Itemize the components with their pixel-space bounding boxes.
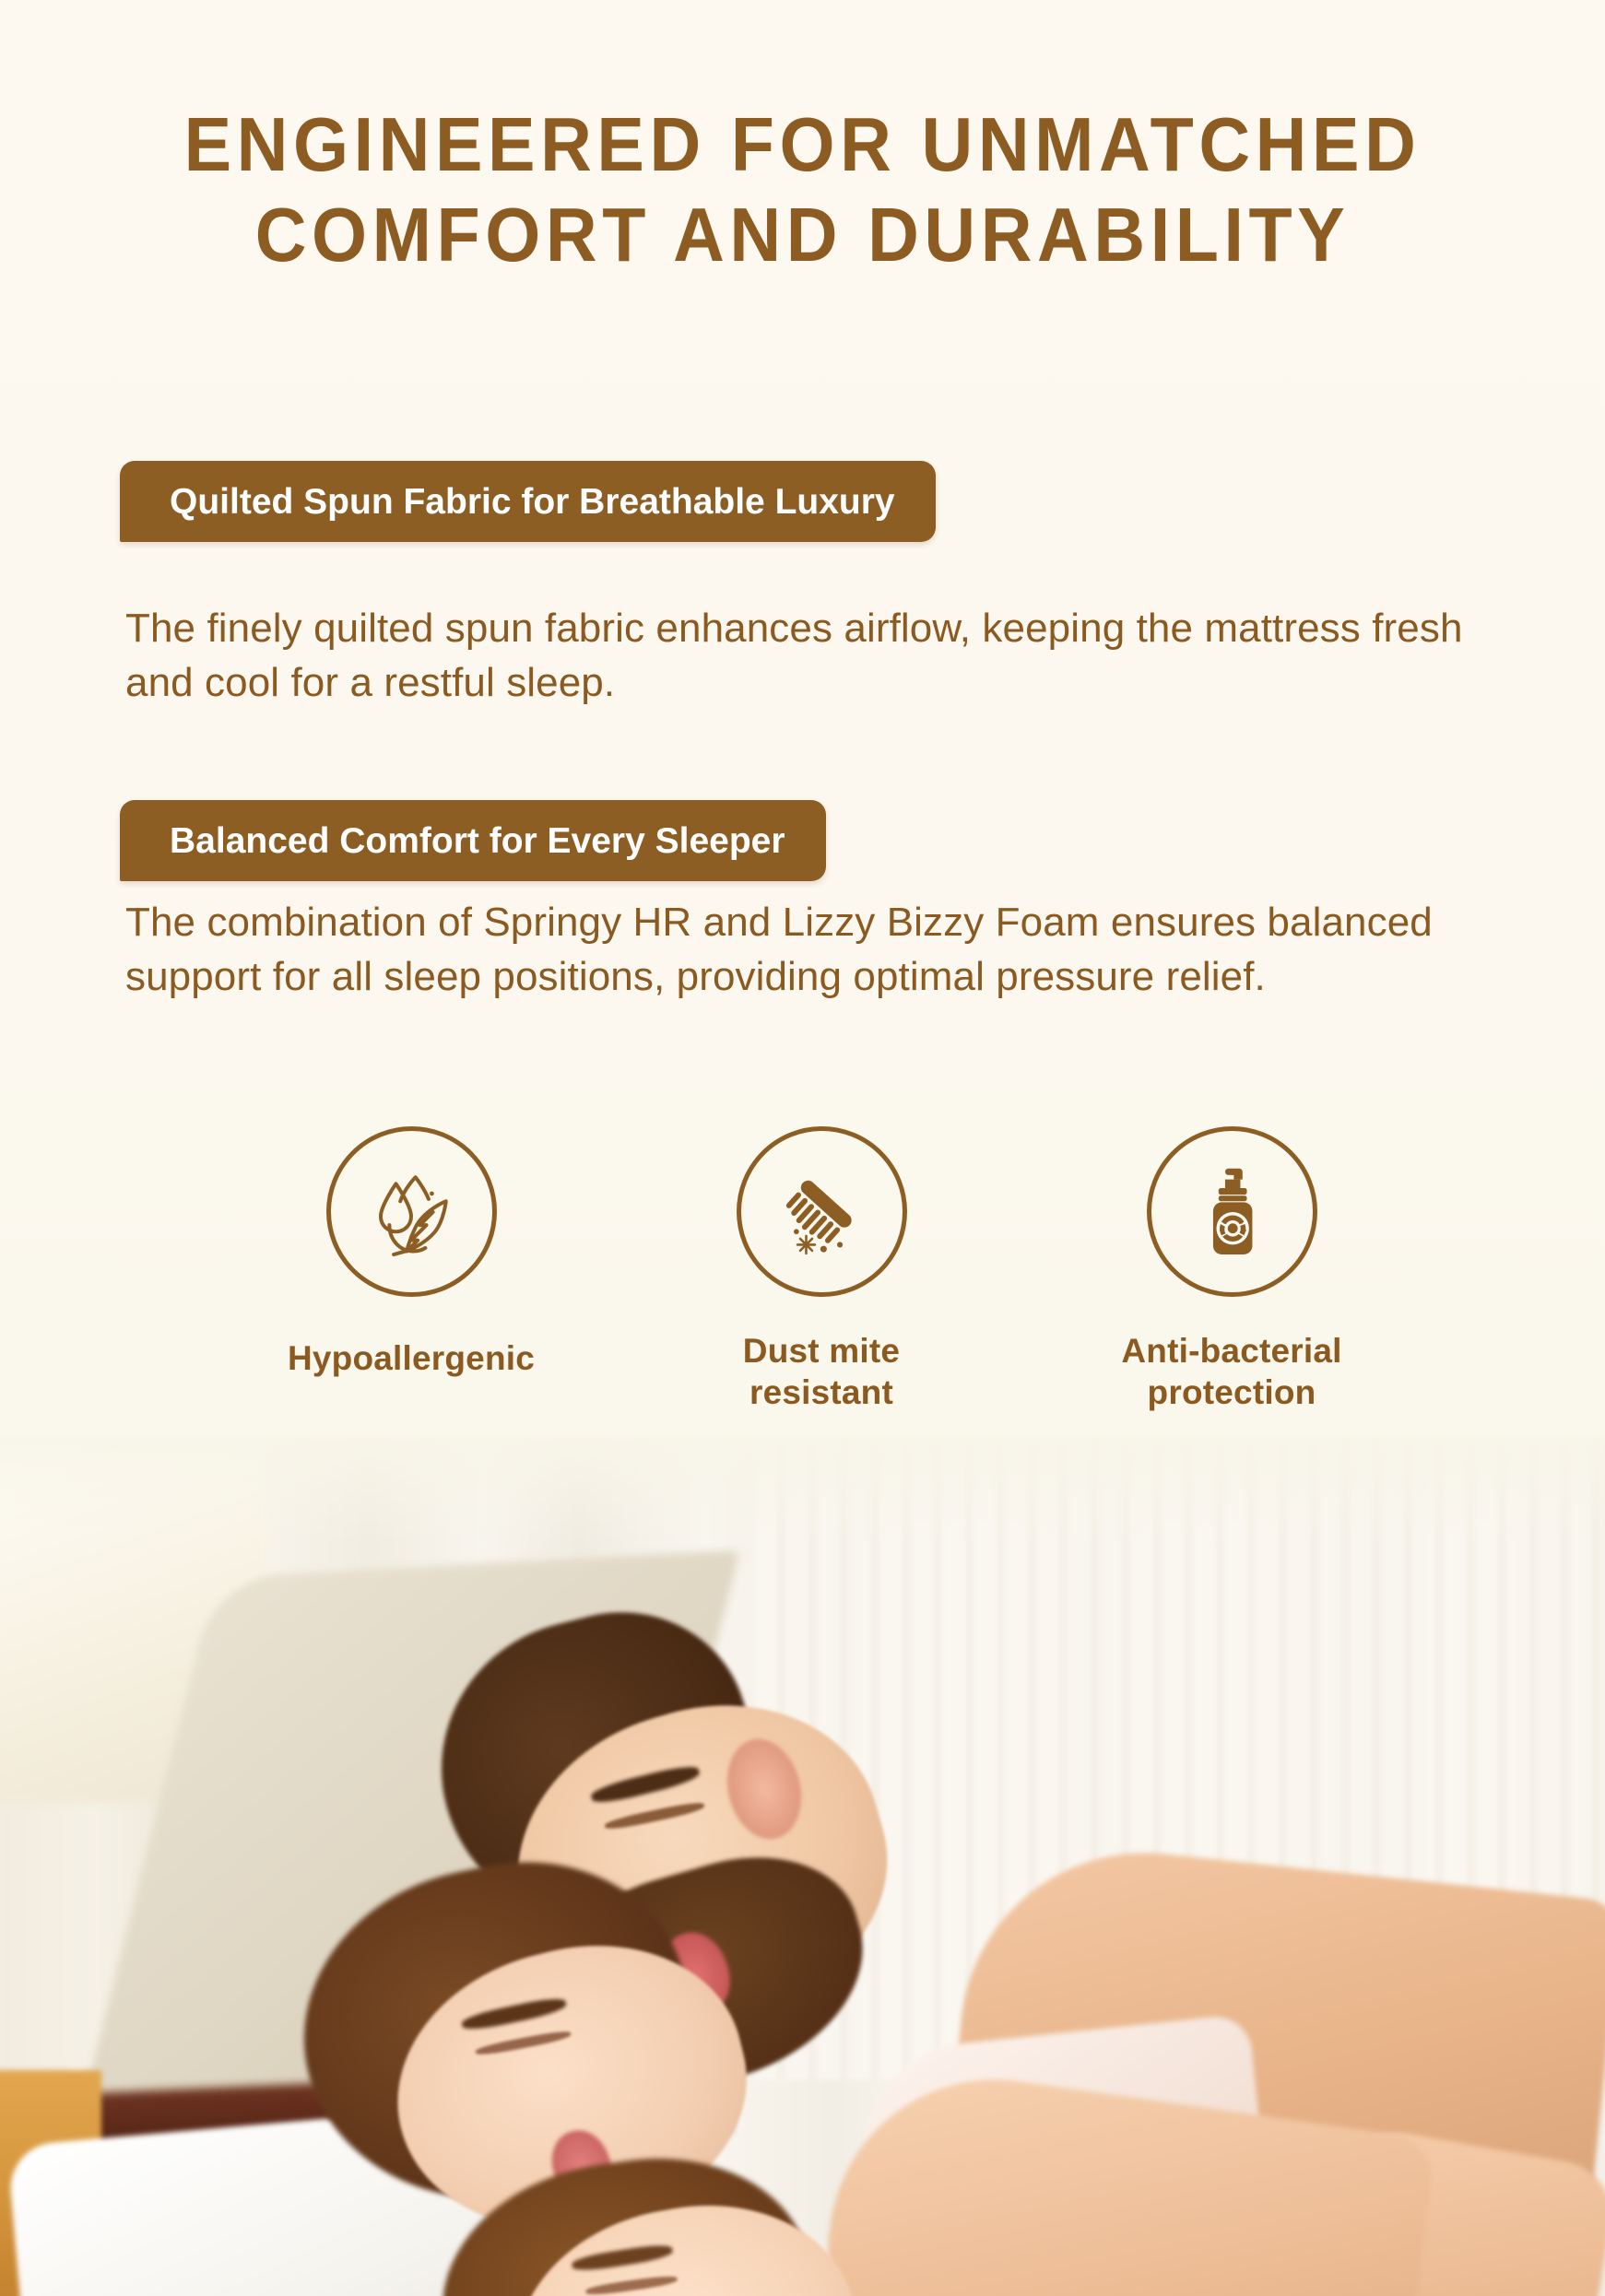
page-title: ENGINEERED FOR UNMATCHED COMFORT AND DUR… [0, 100, 1605, 280]
feature-icon-circle [737, 1126, 907, 1297]
brush-sparkle-icon [767, 1158, 876, 1266]
feature-icon-circle [1147, 1126, 1317, 1297]
family-sleeping-photo [0, 1434, 1605, 2296]
section-body-balanced-comfort: The combination of Springy HR and Lizzy … [125, 896, 1490, 1004]
section-badge-label: Balanced Comfort for Every Sleeper [170, 823, 785, 859]
feature-hypoallergenic: Hypoallergenic [227, 1126, 596, 1379]
feature-label: Anti-bacterialprotection [1121, 1330, 1341, 1413]
section-body-quilted-spun-fabric: The finely quilted spun fabric enhances … [125, 602, 1490, 710]
page-title-line-2: COMFORT AND DURABILITY [56, 190, 1549, 280]
product-feature-poster: ENGINEERED FOR UNMATCHED COMFORT AND DUR… [0, 0, 1605, 2296]
feature-icon-row: Hypoallergenic [227, 1126, 1416, 1413]
feature-label: Dust miteresistant [743, 1330, 900, 1413]
section-badge-quilted-spun-fabric: Quilted Spun Fabric for Breathable Luxur… [120, 461, 936, 542]
section-badge-label: Quilted Spun Fabric for Breathable Luxur… [170, 484, 895, 520]
water-drop-feather-icon [357, 1158, 466, 1266]
feature-label: Hypoallergenic [288, 1337, 535, 1379]
feature-dust-mite-resistant: Dust miteresistant [637, 1126, 1006, 1413]
photo-top-fade [0, 1434, 1605, 1545]
feature-anti-bacterial-protection: Anti-bacterialprotection [1047, 1126, 1416, 1413]
sanitizer-bottle-icon [1177, 1158, 1286, 1266]
section-badge-balanced-comfort: Balanced Comfort for Every Sleeper [120, 800, 826, 881]
feature-icon-circle [326, 1126, 497, 1297]
page-title-line-1: ENGINEERED FOR UNMATCHED [56, 100, 1549, 190]
